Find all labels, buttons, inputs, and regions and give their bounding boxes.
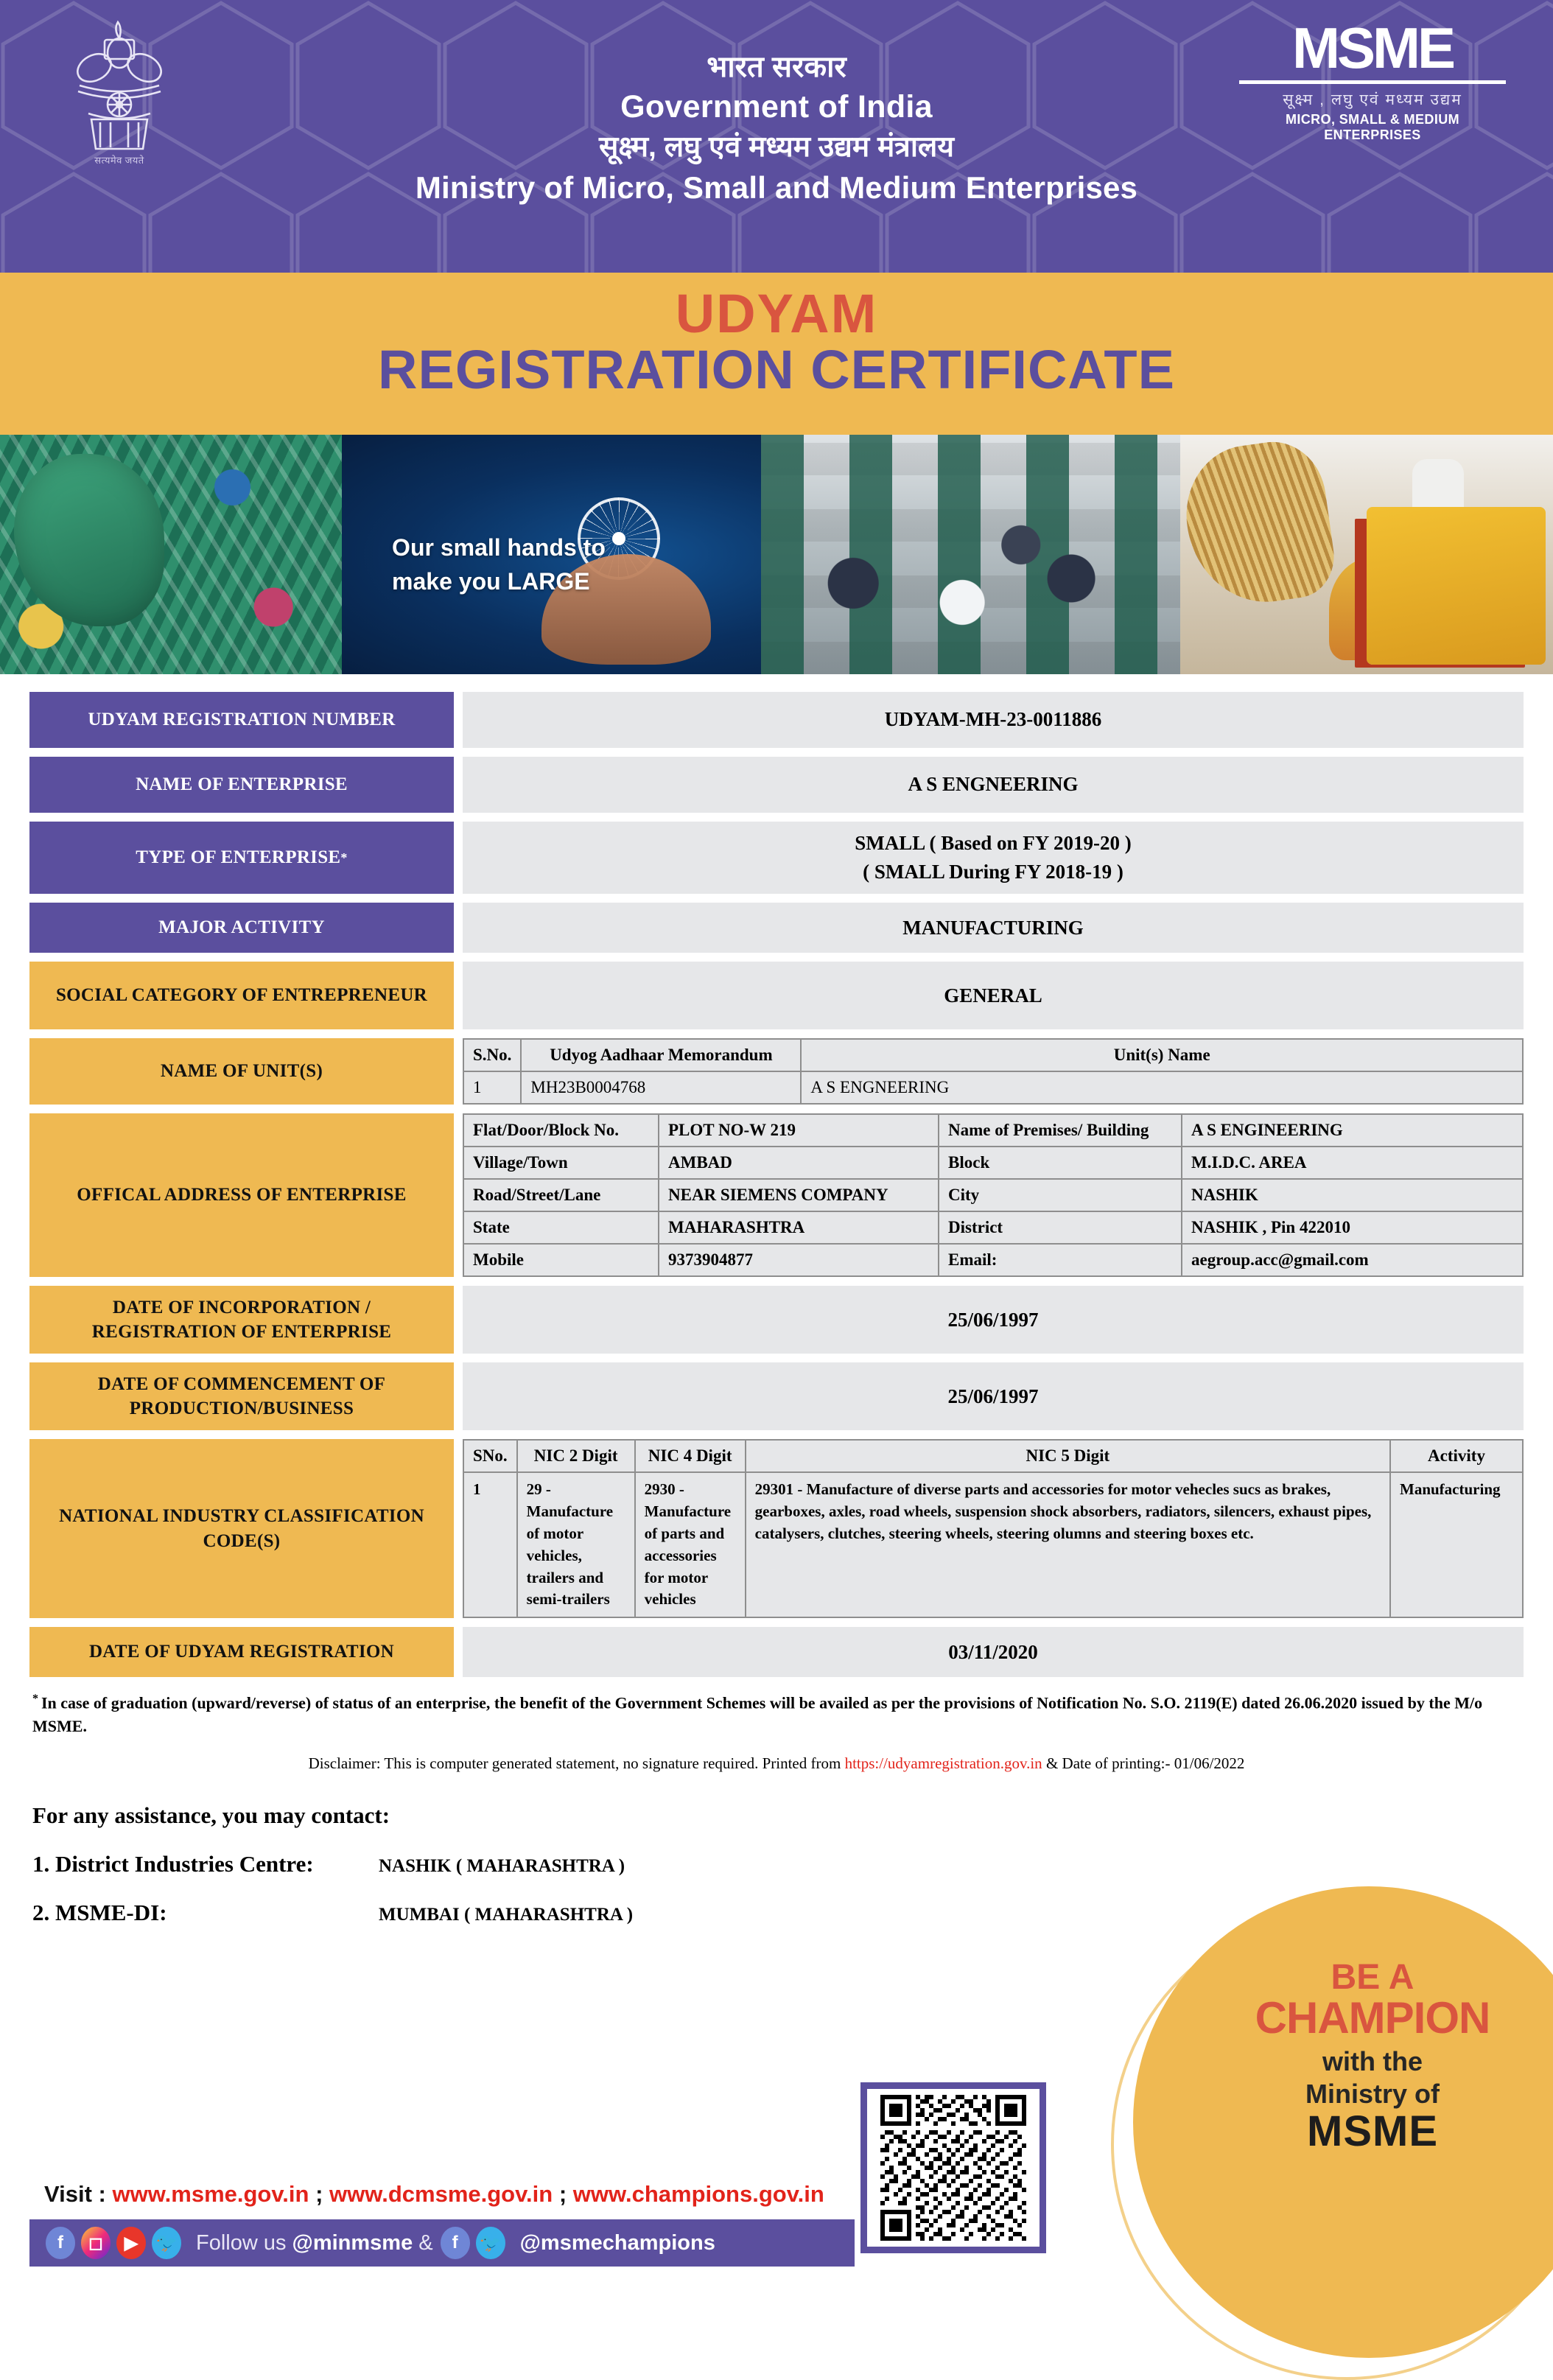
assistance-contact-section: For any assistance, you may contact: 1. … (32, 1802, 1553, 1926)
contact-value-dic: NASHIK ( MAHARASHTRA ) (379, 1856, 625, 1877)
contact-label-msmedi: 2. MSME-DI: (32, 1900, 379, 1926)
units-th-sno: S.No. (463, 1039, 521, 1071)
government-header: सत्यमेव जयते भारत सरकार Government of In… (0, 0, 1553, 273)
banner-tagline: Our small hands to make you LARGE (392, 531, 606, 599)
row-major-activity: MAJOR ACTIVITY MANUFACTURING (29, 903, 1524, 953)
champion-line-be-a: BE A (1199, 1960, 1546, 1995)
nic-cell-4digit: 2930 - Manufacture of parts and accessor… (635, 1472, 746, 1617)
value-name-of-enterprise: A S ENGNEERING (463, 757, 1524, 813)
address-table: Flat/Door/Block No. PLOT NO-W 219 Name o… (463, 1113, 1524, 1277)
footnote-star: * (32, 1693, 38, 1705)
graduation-footnote: *In case of graduation (upward/reverse) … (32, 1690, 1524, 1738)
value-registration-number: UDYAM-MH-23-0011886 (463, 692, 1524, 748)
handle-minmsme[interactable]: @minmsme (292, 2231, 413, 2255)
contact-row-msmedi: 2. MSME-DI: MUMBAI ( MAHARASHTRA ) (32, 1900, 1553, 1926)
row-official-address: OFFICAL ADDRESS OF ENTERPRISE Flat/Door/… (29, 1113, 1524, 1277)
banner-photo-office (761, 435, 1180, 674)
label-type-of-enterprise: TYPE OF ENTERPRISE* (29, 822, 454, 894)
msme-logo-wordmark: MSME (1236, 21, 1509, 76)
nic-table: SNo. NIC 2 Digit NIC 4 Digit NIC 5 Digit… (463, 1439, 1524, 1618)
msme-logo: MSME सूक्ष्म , लघु एवं मध्यम उद्यम MICRO… (1236, 21, 1509, 143)
address-row-mobile: Mobile 9373904877 Email: aegroup.acc@gma… (463, 1244, 1523, 1276)
address-value-mobile: 9373904877 (659, 1244, 939, 1276)
nic-th-5digit: NIC 5 Digit (746, 1440, 1390, 1472)
address-key-village: Village/Town (463, 1147, 659, 1179)
address-key-city: City (939, 1179, 1182, 1211)
value-type-line2: ( SMALL During FY 2018-19 ) (855, 858, 1132, 886)
instagram-icon[interactable]: ◻ (81, 2227, 111, 2259)
address-value-road: NEAR SIEMENS COMPANY (659, 1179, 939, 1211)
msme-logo-rule (1239, 80, 1506, 84)
row-date-of-incorporation: DATE OF INCORPORATION / REGISTRATION OF … (29, 1286, 1524, 1354)
address-key-road: Road/Street/Lane (463, 1179, 659, 1211)
units-cell-uam: MH23B0004768 (521, 1071, 801, 1104)
address-value-block: M.I.D.C. AREA (1182, 1147, 1523, 1179)
nic-table-row: 1 29 - Manufacture of motor vehicles, tr… (463, 1472, 1523, 1617)
handle-msmechampions-wrap: @msmechampions (520, 2231, 715, 2255)
units-table-row: 1 MH23B0004768 A S ENGNEERING (463, 1071, 1523, 1104)
row-name-of-enterprise: NAME OF ENTERPRISE A S ENGNEERING (29, 757, 1524, 813)
address-value-village: AMBAD (659, 1147, 939, 1179)
row-nic-codes: NATIONAL INDUSTRY CLASSIFICATION CODE(S)… (29, 1439, 1524, 1618)
qr-code-icon (873, 2095, 1034, 2241)
address-value-flat: PLOT NO-W 219 (659, 1114, 939, 1147)
row-registration-number: UDYAM REGISTRATION NUMBER UDYAM-MH-23-00… (29, 692, 1524, 748)
address-value-city: NASHIK (1182, 1179, 1523, 1211)
units-th-unitname: Unit(s) Name (801, 1039, 1523, 1071)
label-type-of-enterprise-text: TYPE OF ENTERPRISE (136, 845, 340, 870)
msme-logo-hindi: सूक्ष्म , लघु एवं मध्यम उद्यम (1236, 91, 1509, 109)
visit-separator-1: ; (309, 2181, 329, 2207)
udyam-portal-link[interactable]: https://udyamregistration.gov.in (845, 1754, 1042, 1772)
banner-tagline-line2: make you LARGE (392, 564, 606, 598)
visit-label: Visit : (44, 2181, 112, 2207)
follow-us-text: Follow us @minmsme & (196, 2231, 433, 2255)
address-value-state: MAHARASHTRA (659, 1211, 939, 1244)
nic-cell-sno: 1 (463, 1472, 517, 1617)
units-th-uam: Udyog Aadhaar Memorandum (521, 1039, 801, 1071)
qr-code-box[interactable] (860, 2082, 1046, 2253)
address-value-premises: A S ENGINEERING (1182, 1114, 1523, 1147)
address-row-state: State MAHARASHTRA District NASHIK , Pin … (463, 1211, 1523, 1244)
nic-cell-2digit: 29 - Manufacture of motor vehicles, trai… (517, 1472, 635, 1617)
label-social-category: SOCIAL CATEGORY OF ENTREPRENEUR (29, 962, 454, 1029)
nic-th-4digit: NIC 4 Digit (635, 1440, 746, 1472)
address-key-state: State (463, 1211, 659, 1244)
value-date-of-commencement: 25/06/1997 (463, 1362, 1524, 1430)
facebook-icon[interactable]: f (46, 2227, 75, 2259)
nic-cell-5digit: 29301 - Manufacture of diverse parts and… (746, 1472, 1390, 1617)
row-date-of-commencement: DATE OF COMMENCEMENT OF PRODUCTION/BUSIN… (29, 1362, 1524, 1430)
address-key-mobile: Mobile (463, 1244, 659, 1276)
banner-photo-field (1180, 435, 1553, 674)
banner-photo-tagline: Our small hands to make you LARGE (342, 435, 761, 674)
row-type-of-enterprise: TYPE OF ENTERPRISE* SMALL ( Based on FY … (29, 822, 1524, 894)
disclaimer-prefix: Disclaimer: This is computer generated s… (309, 1754, 845, 1772)
nic-table-wrapper: SNo. NIC 2 Digit NIC 4 Digit NIC 5 Digit… (463, 1439, 1524, 1618)
value-type-of-enterprise: SMALL ( Based on FY 2019-20 ) ( SMALL Du… (463, 822, 1524, 894)
label-date-of-commencement: DATE OF COMMENCEMENT OF PRODUCTION/BUSIN… (29, 1362, 454, 1430)
units-cell-unitname: A S ENGNEERING (801, 1071, 1523, 1104)
units-table-wrapper: S.No. Udyog Aadhaar Memorandum Unit(s) N… (463, 1038, 1524, 1105)
address-key-block: Block (939, 1147, 1182, 1179)
champion-line-ministry-of: Ministry of (1199, 2078, 1546, 2110)
value-date-of-incorporation: 25/06/1997 (463, 1286, 1524, 1354)
banner-photo-handicraft (0, 435, 342, 674)
label-official-address: OFFICAL ADDRESS OF ENTERPRISE (29, 1113, 454, 1277)
address-value-district: NASHIK , Pin 422010 (1182, 1211, 1523, 1244)
disclaimer-text: Disclaimer: This is computer generated s… (0, 1754, 1553, 1773)
twitter-icon-champions[interactable]: 🐦 (476, 2227, 505, 2259)
visit-link-msme[interactable]: www.msme.gov.in (112, 2181, 309, 2207)
nic-table-header-row: SNo. NIC 2 Digit NIC 4 Digit NIC 5 Digit… (463, 1440, 1523, 1472)
nic-cell-activity: Manufacturing (1390, 1472, 1523, 1617)
handle-msmechampions[interactable]: @msmechampions (520, 2231, 715, 2255)
label-date-of-udyam-registration: DATE OF UDYAM REGISTRATION (29, 1627, 454, 1677)
contact-value-msmedi: MUMBAI ( MAHARASHTRA ) (379, 1905, 633, 1925)
disclaimer-suffix: & Date of printing:- 01/06/2022 (1042, 1754, 1245, 1772)
address-row-road: Road/Street/Lane NEAR SIEMENS COMPANY Ci… (463, 1179, 1523, 1211)
title-udyam: UDYAM (0, 286, 1553, 341)
value-social-category: GENERAL (463, 962, 1524, 1029)
row-name-of-units: NAME OF UNIT(S) S.No. Udyog Aadhaar Memo… (29, 1038, 1524, 1105)
row-date-of-udyam-registration: DATE OF UDYAM REGISTRATION 03/11/2020 (29, 1627, 1524, 1677)
row-social-category: SOCIAL CATEGORY OF ENTREPRENEUR GENERAL (29, 962, 1524, 1029)
contact-row-dic: 1. District Industries Centre: NASHIK ( … (32, 1851, 1553, 1877)
title-registration-certificate: REGISTRATION CERTIFICATE (0, 341, 1553, 399)
twitter-icon[interactable]: 🐦 (152, 2227, 181, 2259)
social-media-bar: f ◻ ▶ 🐦 Follow us @minmsme & f 🐦 @msmech… (29, 2219, 855, 2267)
address-row-flat: Flat/Door/Block No. PLOT NO-W 219 Name o… (463, 1114, 1523, 1147)
value-type-line1: SMALL ( Based on FY 2019-20 ) (855, 829, 1132, 858)
label-nic-codes: NATIONAL INDUSTRY CLASSIFICATION CODE(S) (29, 1439, 454, 1618)
address-value-email: aegroup.acc@gmail.com (1182, 1244, 1523, 1276)
label-registration-number: UDYAM REGISTRATION NUMBER (29, 692, 454, 748)
address-row-village: Village/Town AMBAD Block M.I.D.C. AREA (463, 1147, 1523, 1179)
follow-prefix: Follow us (196, 2231, 292, 2255)
footnote-text: In case of graduation (upward/reverse) o… (32, 1693, 1482, 1735)
certificate-details-table: UDYAM REGISTRATION NUMBER UDYAM-MH-23-00… (0, 674, 1553, 1677)
nic-th-activity: Activity (1390, 1440, 1523, 1472)
visit-links-line: Visit : www.msme.gov.in ; www.dcmsme.gov… (44, 2181, 824, 2208)
address-key-flat: Flat/Door/Block No. (463, 1114, 659, 1147)
contact-section-title: For any assistance, you may contact: (32, 1802, 1553, 1829)
address-table-wrapper: Flat/Door/Block No. PLOT NO-W 219 Name o… (463, 1113, 1524, 1277)
banner-photo-strip: Our small hands to make you LARGE (0, 435, 1553, 674)
youtube-icon[interactable]: ▶ (116, 2227, 146, 2259)
msme-logo-english: MICRO, SMALL & MEDIUM ENTERPRISES (1236, 112, 1509, 143)
champion-line-with-the: with the (1199, 2045, 1546, 2078)
visit-link-champions[interactable]: www.champions.gov.in (573, 2181, 824, 2207)
ministry-english-title: Ministry of Micro, Small and Medium Ente… (0, 167, 1553, 209)
field-woman-figure (1329, 557, 1417, 660)
value-date-of-udyam-registration: 03/11/2020 (463, 1627, 1524, 1677)
address-key-email: Email: (939, 1244, 1182, 1276)
nic-th-sno: SNo. (463, 1440, 517, 1472)
visit-link-dcmsme[interactable]: www.dcmsme.gov.in (329, 2181, 553, 2207)
facebook-icon-champions[interactable]: f (441, 2227, 470, 2259)
champion-line-msme: MSME (1199, 2110, 1546, 2155)
label-name-of-units: NAME OF UNIT(S) (29, 1038, 454, 1105)
nic-th-2digit: NIC 2 Digit (517, 1440, 635, 1472)
label-major-activity: MAJOR ACTIVITY (29, 903, 454, 953)
label-name-of-enterprise: NAME OF ENTERPRISE (29, 757, 454, 813)
address-key-premises: Name of Premises/ Building (939, 1114, 1182, 1147)
units-cell-sno: 1 (463, 1071, 521, 1104)
label-type-star: * (340, 849, 347, 867)
contact-label-dic: 1. District Industries Centre: (32, 1851, 379, 1877)
units-table-header-row: S.No. Udyog Aadhaar Memorandum Unit(s) N… (463, 1039, 1523, 1071)
address-key-district: District (939, 1211, 1182, 1244)
value-major-activity: MANUFACTURING (463, 903, 1524, 953)
champion-slogan: BE A CHAMPION with the Ministry of MSME (1199, 1960, 1546, 2155)
units-table: S.No. Udyog Aadhaar Memorandum Unit(s) N… (463, 1038, 1524, 1105)
follow-ampersand: & (413, 2231, 432, 2255)
field-worker-figure (1412, 459, 1464, 599)
champion-line-champion: CHAMPION (1199, 1995, 1546, 2040)
certificate-title-band: UDYAM REGISTRATION CERTIFICATE (0, 273, 1553, 435)
banner-tagline-line1: Our small hands to (392, 531, 606, 564)
visit-separator-2: ; (553, 2181, 573, 2207)
label-date-of-incorporation: DATE OF INCORPORATION / REGISTRATION OF … (29, 1286, 454, 1354)
